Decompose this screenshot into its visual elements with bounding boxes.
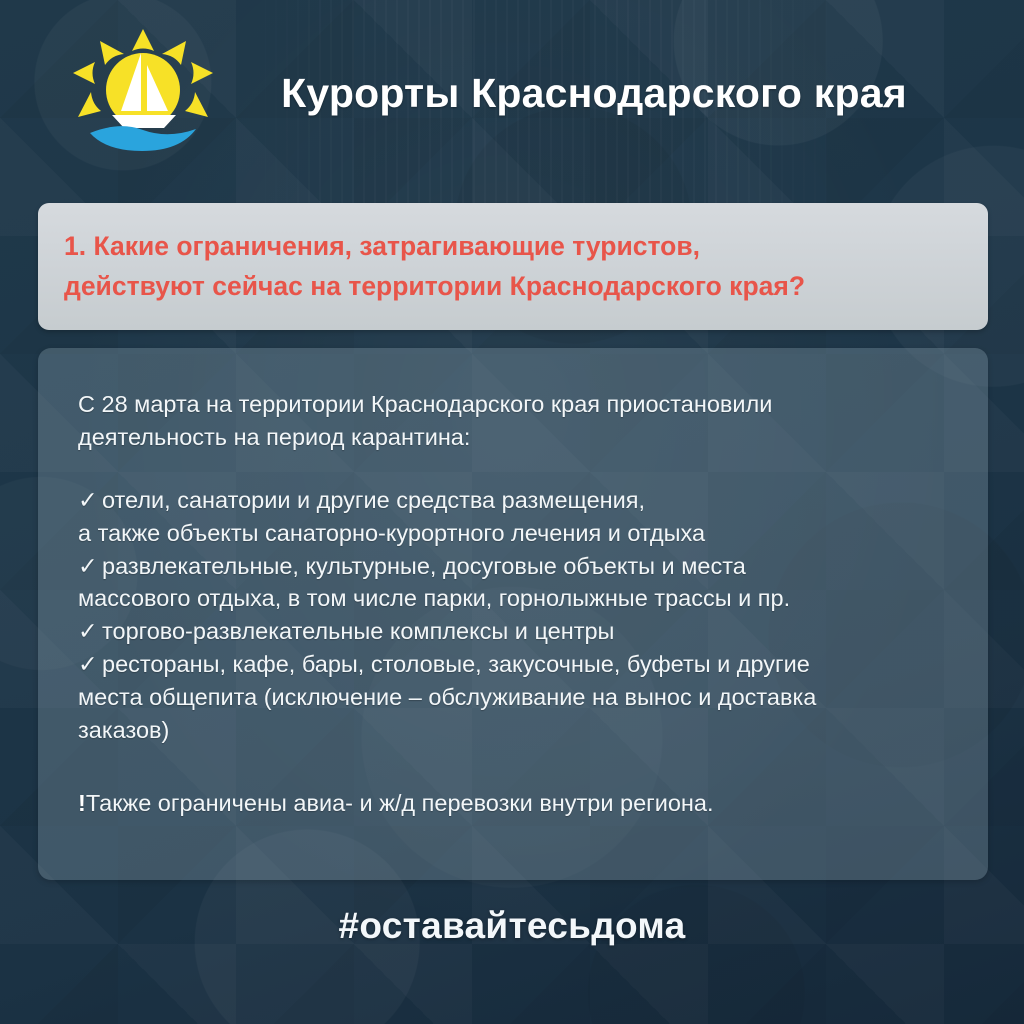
poster-canvas: Курорты Краснодарского края 1. Какие огр… [0, 0, 1024, 1024]
list-item: ✓рестораны, кафе, бары, столовые, закусо… [78, 648, 954, 747]
list-item-continuation: массового отдыха, в том числе парки, гор… [78, 582, 954, 615]
question-line-2: действуют сейчас на территории Краснодар… [64, 267, 805, 306]
sun-sailboat-logo [68, 29, 218, 157]
list-item-text: развлекательные, культурные, досуговые о… [102, 553, 746, 579]
list-item: ✓развлекательные, культурные, досуговые … [78, 550, 954, 616]
alert-note: !Также ограничены авиа- и ж/д перевозки … [78, 787, 954, 820]
intro-line-2: деятельность на период карантина: [78, 421, 954, 454]
intro-line-1: С 28 марта на территории Краснодарского … [78, 388, 954, 421]
alert-text: Также ограничены авиа- и ж/д перевозки в… [86, 790, 714, 816]
list-item-continuation: места общепита (исключение – обслуживани… [78, 681, 954, 714]
list-item: ✓отели, санатории и другие средства разм… [78, 484, 954, 550]
list-item-text: торгово-развлекательные комплексы и цент… [102, 618, 614, 644]
wave-icon [90, 126, 196, 151]
question-text: 1. Какие ограничения, затрагивающие тури… [38, 227, 829, 305]
check-icon: ✓ [78, 484, 102, 517]
list-item-continuation: заказов) [78, 714, 954, 747]
list-item-continuation: а также объекты санаторно-курортного леч… [78, 517, 954, 550]
page-title: Курорты Краснодарского края [218, 70, 1024, 117]
check-icon: ✓ [78, 615, 102, 648]
question-card: 1. Какие ограничения, затрагивающие тури… [38, 203, 988, 330]
exclamation-icon: ! [78, 790, 86, 816]
footer-hashtag: #оставайтесьдома [0, 905, 1024, 947]
check-icon: ✓ [78, 648, 102, 681]
list-item: ✓торгово-развлекательные комплексы и цен… [78, 615, 954, 648]
list-item-text: рестораны, кафе, бары, столовые, закусоч… [102, 651, 810, 677]
poster-header: Курорты Краснодарского края [0, 0, 1024, 186]
question-line-1: 1. Какие ограничения, затрагивающие тури… [64, 227, 805, 266]
check-icon: ✓ [78, 550, 102, 583]
spacer [78, 454, 954, 484]
list-item-text: отели, санатории и другие средства разме… [102, 487, 645, 513]
spacer [78, 747, 954, 787]
answer-card: С 28 марта на территории Краснодарского … [38, 348, 988, 880]
